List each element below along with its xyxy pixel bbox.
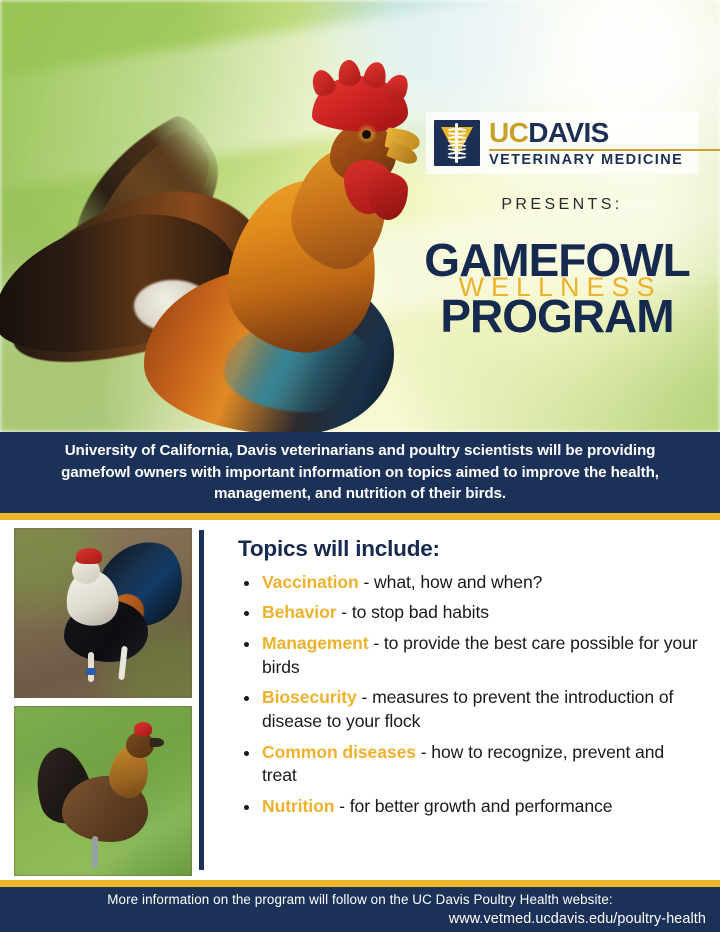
logo-wordmark: UCDAVIS xyxy=(489,119,720,147)
content-section: Topics will include: Vaccination - what,… xyxy=(0,520,720,880)
photo-hen-beak xyxy=(150,738,164,747)
topic-keyword: Management xyxy=(262,633,369,653)
rooster-eye xyxy=(362,130,371,139)
footer-info-text: More information on the program will fol… xyxy=(0,892,720,907)
topic-item: Common diseases - how to recognize, prev… xyxy=(238,741,700,789)
gold-divider-bottom xyxy=(0,880,720,887)
intro-banner-text: University of California, Davis veterina… xyxy=(34,440,686,505)
uc-davis-logo-text: UCDAVIS VETERINARY MEDICINE xyxy=(489,119,720,167)
topic-description: - for better growth and performance xyxy=(334,796,612,816)
topic-item: Vaccination - what, how and when? xyxy=(238,571,700,595)
photo-hen-leg xyxy=(92,836,98,868)
topic-description: - to stop bad habits xyxy=(337,602,489,622)
photo-rooster-leg xyxy=(88,652,94,682)
topic-keyword: Common diseases xyxy=(262,742,416,762)
uc-davis-caduceus-icon xyxy=(434,120,480,166)
topic-keyword: Biosecurity xyxy=(262,687,357,707)
logo-uc-text: UC xyxy=(489,117,528,148)
logo-davis-text: DAVIS xyxy=(528,117,609,148)
hero-section: UCDAVIS VETERINARY MEDICINE PRESENTS: GA… xyxy=(0,0,720,432)
topic-item: Behavior - to stop bad habits xyxy=(238,601,700,625)
uc-davis-logo-panel: UCDAVIS VETERINARY MEDICINE xyxy=(426,112,698,174)
poster-title: GAMEFOWL WELLNESS PROGRAM xyxy=(402,238,712,339)
topic-keyword: Behavior xyxy=(262,602,337,622)
topic-item: Biosecurity - measures to prevent the in… xyxy=(238,686,700,734)
topic-keyword: Vaccination xyxy=(262,572,359,592)
presents-label: PRESENTS: xyxy=(426,196,698,214)
logo-serpent-shape xyxy=(446,127,468,159)
photo-rooster-leg-band xyxy=(86,668,96,675)
hero-rooster-photo xyxy=(0,52,454,432)
topic-item: Management - to provide the best care po… xyxy=(238,632,700,680)
topic-item: Nutrition - for better growth and perfor… xyxy=(238,795,700,819)
topics-section: Topics will include: Vaccination - what,… xyxy=(238,536,700,825)
topics-list: Vaccination - what, how and when? Behavi… xyxy=(238,571,700,819)
photo-hen-comb xyxy=(134,722,152,736)
photo-gamefowl-rooster xyxy=(14,528,192,698)
topic-description: - what, how and when? xyxy=(359,572,543,592)
gold-divider-top xyxy=(0,513,720,520)
footer-website-url[interactable]: www.vetmed.ucdavis.edu/poultry-health xyxy=(449,911,706,927)
footer-section: More information on the program will fol… xyxy=(0,887,720,932)
photo-column xyxy=(14,528,192,876)
topics-heading: Topics will include: xyxy=(238,536,700,562)
topic-keyword: Nutrition xyxy=(262,796,334,816)
photo-gamefowl-hen xyxy=(14,706,192,876)
photo-rooster-comb xyxy=(76,548,102,564)
title-program: PROGRAM xyxy=(402,293,712,339)
gamefowl-wellness-program-poster: UCDAVIS VETERINARY MEDICINE PRESENTS: GA… xyxy=(0,0,720,932)
vertical-divider xyxy=(199,530,204,870)
intro-banner: University of California, Davis veterina… xyxy=(0,432,720,513)
logo-subtitle: VETERINARY MEDICINE xyxy=(489,153,720,168)
logo-divider-rule xyxy=(489,149,720,151)
